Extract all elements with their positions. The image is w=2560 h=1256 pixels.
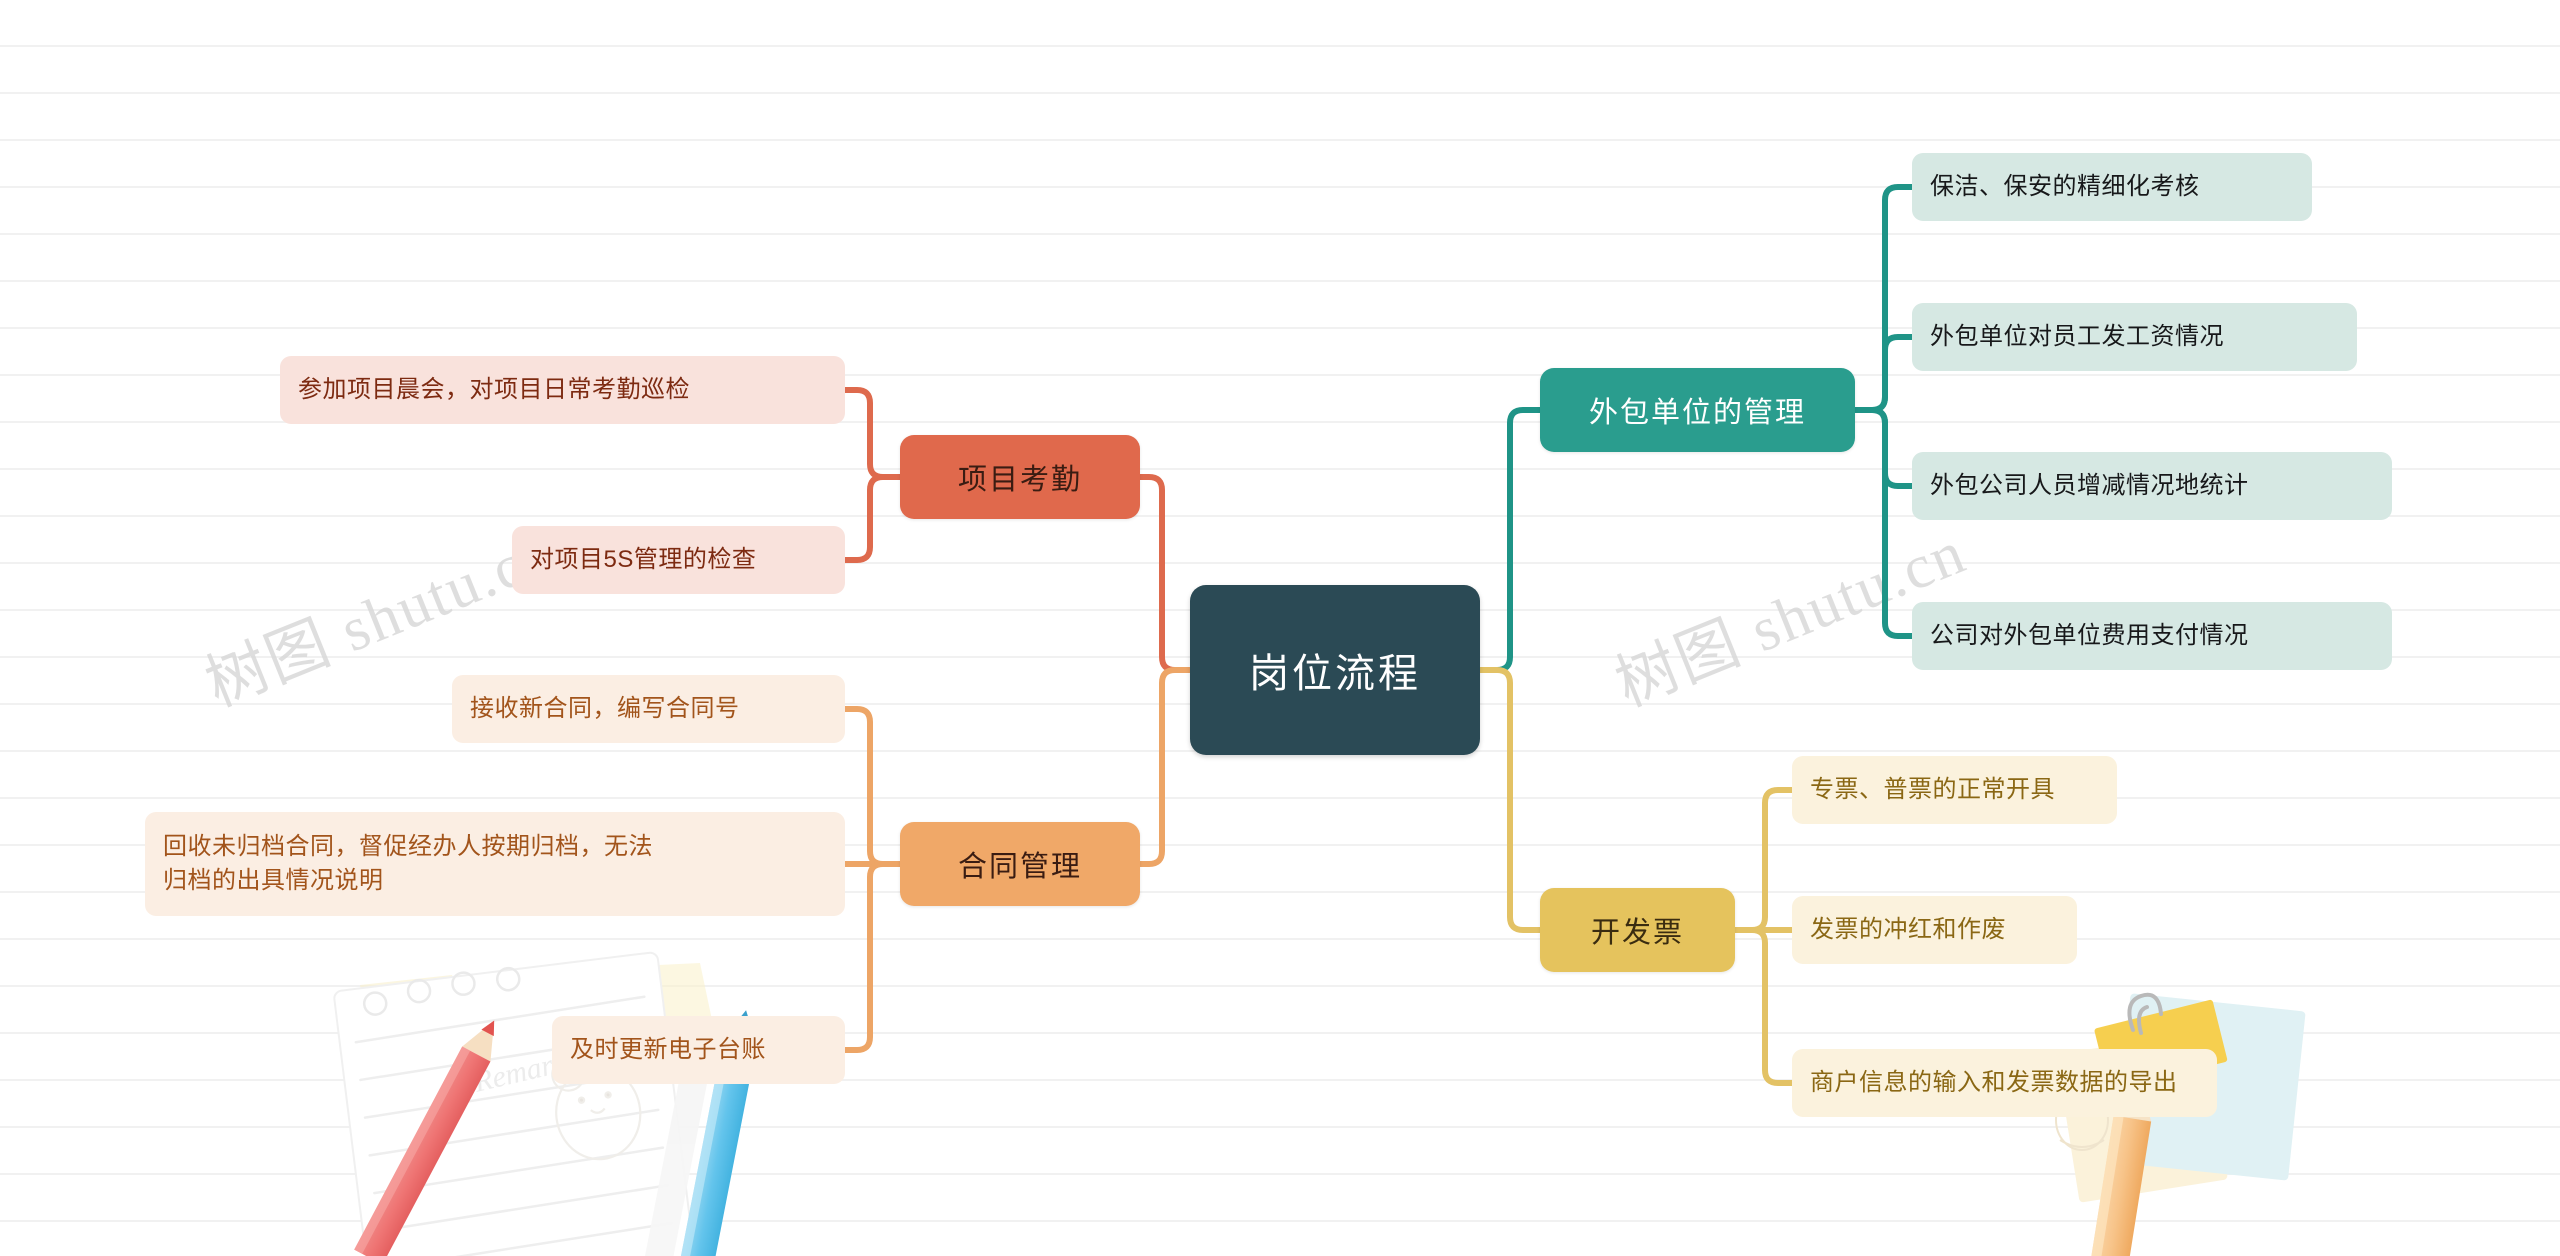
- leaf-node-contract-2[interactable]: 及时更新电子台账: [552, 1016, 845, 1084]
- leaf-node-outsourcing-2-label: 外包公司人员增减情况地统计: [1930, 469, 2249, 503]
- leaf-node-contract-1-label: 回收未归档合同，督促经办人按期归档，无法 归档的出具情况说明: [163, 830, 653, 898]
- leaf-node-outsourcing-1-label: 外包单位对员工发工资情况: [1930, 320, 2224, 354]
- leaf-node-invoice-1-label: 发票的冲红和作废: [1810, 913, 2006, 947]
- branch-node-outsourcing[interactable]: 外包单位的管理: [1540, 368, 1855, 452]
- leaf-node-outsourcing-3-label: 公司对外包单位费用支付情况: [1930, 619, 2249, 653]
- leaf-node-invoice-0[interactable]: 专票、普票的正常开具: [1792, 756, 2117, 824]
- edge-invoice-leaf-2: [1735, 930, 1792, 1083]
- red-pencil: [354, 1013, 508, 1256]
- leaf-node-outsourcing-1[interactable]: 外包单位对员工发工资情况: [1912, 303, 2357, 371]
- branch-node-attendance[interactable]: 项目考勤: [900, 435, 1140, 519]
- edge-root-attendance: [1140, 477, 1190, 670]
- edge-outsourcing-leaf-3: [1855, 410, 1912, 636]
- edge-attendance-leaf-1: [845, 477, 900, 560]
- leaf-node-outsourcing-3[interactable]: 公司对外包单位费用支付情况: [1912, 602, 2392, 670]
- branch-node-invoice[interactable]: 开发票: [1540, 888, 1735, 972]
- edge-invoice-leaf-0: [1735, 790, 1792, 930]
- edge-contract-leaf-2: [845, 864, 900, 1050]
- leaf-node-outsourcing-0[interactable]: 保洁、保安的精细化考核: [1912, 153, 2312, 221]
- leaf-node-outsourcing-2[interactable]: 外包公司人员增减情况地统计: [1912, 452, 2392, 520]
- branch-node-invoice-label: 开发票: [1591, 909, 1684, 951]
- branch-node-contract-label: 合同管理: [958, 843, 1082, 885]
- edge-outsourcing-leaf-0: [1855, 187, 1912, 410]
- edge-root-contract: [1140, 670, 1190, 864]
- leaf-node-contract-0-label: 接收新合同，编写合同号: [470, 692, 740, 726]
- leaf-node-invoice-2[interactable]: 商户信息的输入和发票数据的导出: [1792, 1049, 2217, 1117]
- leaf-node-invoice-0-label: 专票、普票的正常开具: [1810, 773, 2055, 807]
- edge-attendance-leaf-0: [845, 390, 900, 477]
- leaf-node-attendance-1-label: 对项目5S管理的检查: [530, 543, 756, 577]
- edge-contract-leaf-0: [845, 709, 900, 864]
- leaf-node-attendance-0[interactable]: 参加项目晨会，对项目日常考勤巡检: [280, 356, 845, 424]
- branch-node-attendance-label: 项目考勤: [958, 456, 1082, 498]
- leaf-node-invoice-2-label: 商户信息的输入和发票数据的导出: [1810, 1066, 2178, 1100]
- edge-outsourcing-leaf-1: [1855, 337, 1912, 410]
- root-node[interactable]: 岗位流程: [1190, 585, 1480, 755]
- mindmap-canvas: Remark: [0, 0, 2560, 1256]
- leaf-node-contract-0[interactable]: 接收新合同，编写合同号: [452, 675, 845, 743]
- notebook-page: Remark: [333, 949, 697, 1256]
- leaf-node-attendance-1[interactable]: 对项目5S管理的检查: [512, 526, 845, 594]
- branch-node-contract[interactable]: 合同管理: [900, 822, 1140, 906]
- edge-root-outsourcing: [1480, 410, 1540, 670]
- leaf-node-outsourcing-0-label: 保洁、保安的精细化考核: [1930, 170, 2200, 204]
- root-node-label: 岗位流程: [1249, 641, 1421, 699]
- edge-root-invoice: [1480, 670, 1540, 930]
- leaf-node-contract-1[interactable]: 回收未归档合同，督促经办人按期归档，无法 归档的出具情况说明: [145, 812, 845, 916]
- binder-clip: [2129, 995, 2161, 1033]
- leaf-node-invoice-1[interactable]: 发票的冲红和作废: [1792, 896, 2077, 964]
- leaf-node-contract-2-label: 及时更新电子台账: [570, 1033, 766, 1067]
- leaf-node-attendance-0-label: 参加项目晨会，对项目日常考勤巡检: [298, 373, 690, 407]
- edge-outsourcing-leaf-2: [1855, 410, 1912, 486]
- branch-node-outsourcing-label: 外包单位的管理: [1589, 389, 1806, 431]
